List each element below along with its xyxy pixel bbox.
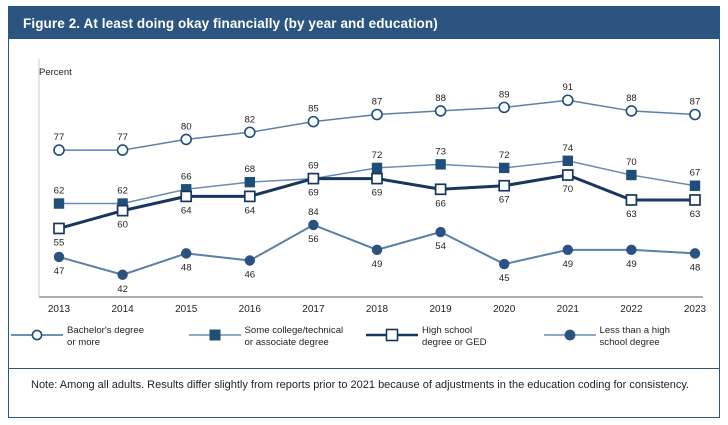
- data-label: 49: [562, 259, 573, 270]
- data-label: 55: [54, 237, 65, 248]
- data-point: [117, 270, 127, 280]
- data-label: 73: [435, 146, 446, 157]
- x-axis-tick-2021: 2021: [557, 304, 580, 315]
- data-point: [436, 184, 446, 194]
- legend-item-bachelors[interactable]: Bachelor's degree or more: [9, 325, 187, 369]
- data-point: [563, 245, 573, 255]
- data-label: 72: [499, 150, 510, 161]
- data-label: 84: [308, 207, 319, 218]
- legend-item-high-school[interactable]: High school degree or GED: [364, 325, 542, 369]
- data-label: 70: [626, 157, 637, 168]
- data-label: 56: [308, 234, 319, 245]
- data-point: [54, 252, 64, 262]
- data-label: 69: [372, 188, 383, 199]
- data-point: [435, 159, 445, 169]
- line-chart: 7777808285878889918887626266686972737274…: [9, 39, 719, 329]
- legend-label-line1: High school: [422, 325, 487, 337]
- legend-item-some-college[interactable]: Some college/technical or associate degr…: [187, 325, 365, 369]
- legend-key-less-than-hs: [542, 325, 598, 347]
- data-label: 74: [562, 143, 573, 154]
- x-axis-tick-2016: 2016: [239, 304, 262, 315]
- data-point: [372, 109, 382, 119]
- data-point: [372, 245, 382, 255]
- data-label: 87: [372, 96, 383, 107]
- data-label: 88: [435, 93, 446, 104]
- legend-label-line1: Some college/technical: [245, 325, 344, 337]
- data-point: [690, 195, 700, 205]
- figure-note: Note: Among all adults. Results differ s…: [9, 368, 719, 416]
- legend-label-some-college: Some college/technical or associate degr…: [243, 325, 344, 348]
- data-label: 67: [690, 168, 701, 179]
- data-label: 47: [54, 266, 65, 277]
- legend-key-bachelors: [9, 325, 65, 347]
- data-point: [54, 223, 64, 233]
- data-point: [626, 195, 636, 205]
- data-point: [435, 227, 445, 237]
- data-point: [563, 95, 573, 105]
- x-axis-tick-2023: 2023: [684, 304, 707, 315]
- data-label: 62: [54, 186, 65, 197]
- data-point: [499, 163, 509, 173]
- data-point: [690, 248, 700, 258]
- data-point: [626, 170, 636, 180]
- data-label: 66: [181, 171, 192, 182]
- x-axis-tick-2013: 2013: [48, 304, 71, 315]
- data-point: [499, 259, 509, 269]
- data-point: [436, 106, 446, 116]
- data-label: 49: [626, 259, 637, 270]
- legend-label-line2: or more: [67, 337, 144, 349]
- legend-label-line2: degree or GED: [422, 337, 487, 349]
- data-point: [54, 198, 64, 208]
- data-label: 48: [690, 262, 701, 273]
- data-point: [626, 245, 636, 255]
- legend-label-line1: Less than a high: [600, 325, 670, 337]
- data-label: 70: [562, 184, 573, 195]
- x-axis-tick-2014: 2014: [111, 304, 134, 315]
- data-point: [118, 145, 128, 155]
- data-point: [308, 174, 318, 184]
- data-point: [308, 220, 318, 230]
- data-label: 48: [181, 262, 192, 273]
- data-point: [308, 117, 318, 127]
- data-point: [626, 106, 636, 116]
- data-point: [499, 181, 509, 191]
- data-label: 72: [372, 150, 383, 161]
- data-point: [245, 177, 255, 187]
- data-label: 67: [499, 195, 510, 206]
- legend-key-some-college: [187, 325, 243, 347]
- data-point: [372, 163, 382, 173]
- data-label: 87: [690, 96, 701, 107]
- page-title: Figure 2. At least doing okay financiall…: [9, 16, 438, 31]
- data-point: [54, 145, 64, 155]
- data-label: 69: [308, 161, 319, 172]
- data-point: [118, 206, 128, 216]
- data-label: 46: [244, 270, 255, 281]
- x-axis-tick-2020: 2020: [493, 304, 516, 315]
- data-label: 42: [117, 284, 128, 295]
- data-point: [499, 102, 509, 112]
- data-label: 89: [499, 89, 510, 100]
- data-label: 64: [181, 205, 192, 216]
- data-point: [245, 255, 255, 265]
- data-label: 85: [308, 104, 319, 115]
- legend-label-bachelors: Bachelor's degree or more: [65, 325, 144, 348]
- series-line-open-circle: [59, 100, 695, 150]
- data-point: [181, 248, 191, 258]
- data-point: [245, 191, 255, 201]
- data-label: 77: [117, 132, 128, 143]
- data-label: 60: [117, 220, 128, 231]
- x-axis-tick-2015: 2015: [175, 304, 198, 315]
- data-point: [372, 174, 382, 184]
- x-axis-tick-2019: 2019: [429, 304, 452, 315]
- legend-label-line1: Bachelor's degree: [67, 325, 144, 337]
- plot-area: Percent 77778082858788899188876262666869…: [9, 39, 719, 329]
- figure-container: Figure 2. At least doing okay financiall…: [0, 0, 728, 425]
- x-axis-tick-2018: 2018: [366, 304, 389, 315]
- data-label: 80: [181, 121, 192, 132]
- data-label: 63: [690, 209, 701, 220]
- data-point: [690, 109, 700, 119]
- data-label: 91: [562, 82, 573, 93]
- data-label: 45: [499, 273, 510, 284]
- data-label: 68: [244, 164, 255, 175]
- data-label: 64: [244, 205, 255, 216]
- data-label: 82: [244, 114, 255, 125]
- x-axis-tick-2017: 2017: [302, 304, 325, 315]
- legend-label-line2: school degree: [600, 337, 670, 349]
- legend-label-less-than-hs: Less than a high school degree: [598, 325, 670, 348]
- legend-label-line2: or associate degree: [245, 337, 344, 349]
- data-label: 88: [626, 93, 637, 104]
- data-label: 49: [372, 259, 383, 270]
- x-axis-tick-2022: 2022: [620, 304, 643, 315]
- data-point: [563, 156, 573, 166]
- data-label: 69: [308, 188, 319, 199]
- data-label: 62: [117, 186, 128, 197]
- data-point: [245, 127, 255, 137]
- chart-legend: Bachelor's degree or more Some college/t…: [9, 325, 719, 369]
- legend-item-less-than-hs[interactable]: Less than a high school degree: [542, 325, 720, 369]
- data-point: [690, 181, 700, 191]
- legend-key-high-school: [364, 325, 420, 347]
- data-label: 77: [54, 132, 65, 143]
- data-point: [181, 134, 191, 144]
- data-label: 66: [435, 198, 446, 209]
- data-point: [181, 191, 191, 201]
- legend-label-high-school: High school degree or GED: [420, 325, 487, 348]
- data-label: 54: [435, 241, 446, 252]
- figure-title-bar: Figure 2. At least doing okay financiall…: [9, 7, 719, 39]
- data-point: [563, 170, 573, 180]
- data-label: 63: [626, 209, 637, 220]
